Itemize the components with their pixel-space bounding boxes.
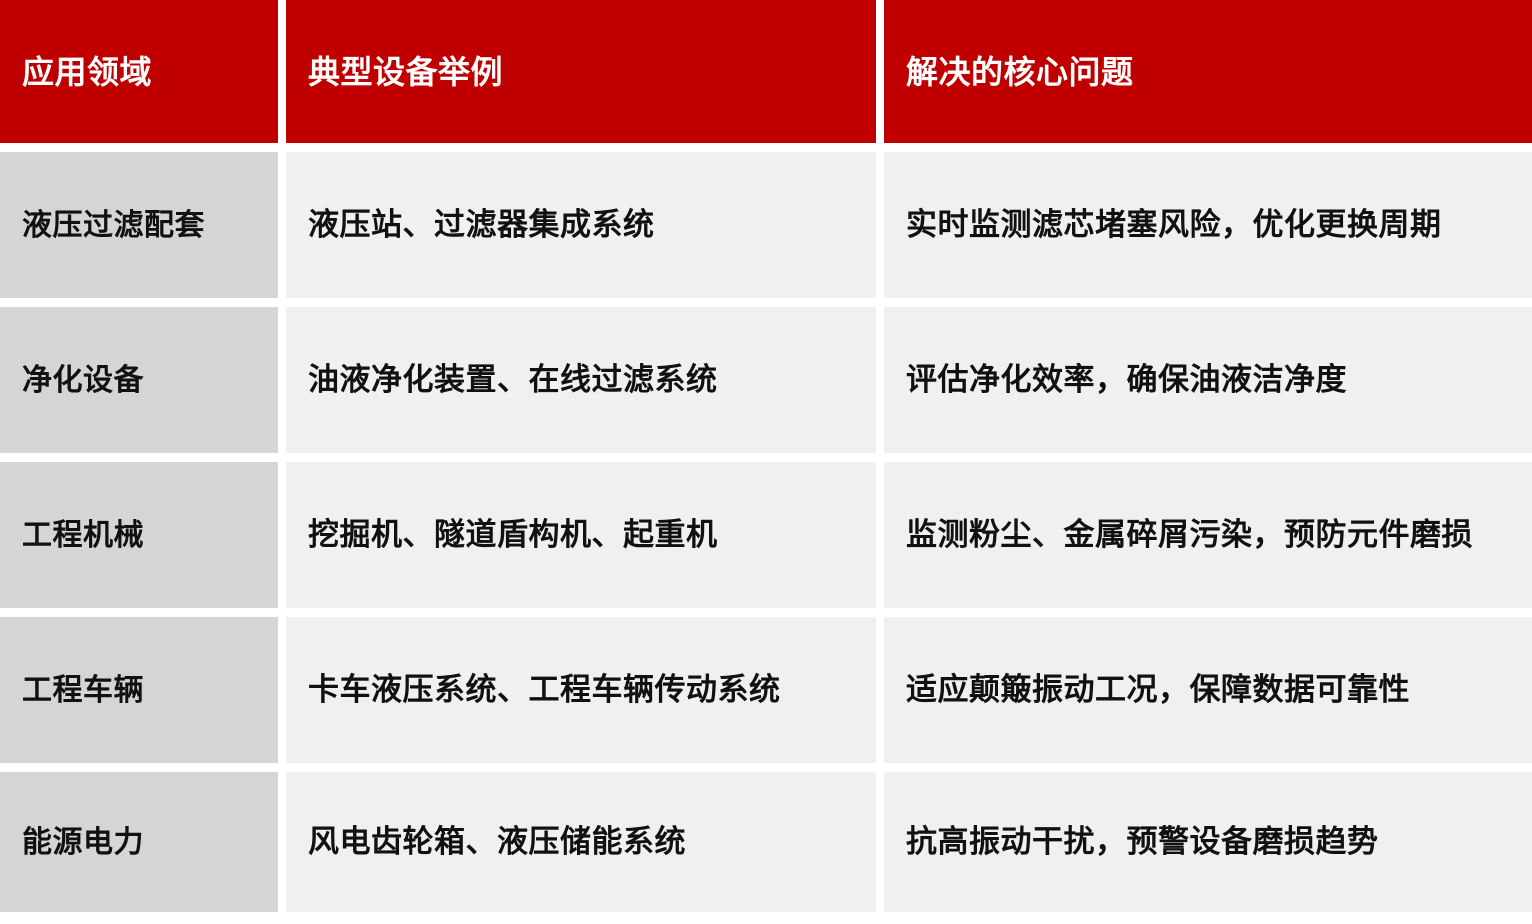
cell-core-problem: 监测粉尘、金属碎屑污染，预防元件磨损 bbox=[884, 462, 1532, 608]
cell-typical-equipment: 液压站、过滤器集成系统 bbox=[286, 152, 876, 298]
column-header-core-problem: 解决的核心问题 bbox=[884, 0, 1532, 143]
table-row: 工程机械 挖掘机、隧道盾构机、起重机 监测粉尘、金属碎屑污染，预防元件磨损 bbox=[0, 462, 1532, 608]
table-header-row: 应用领域 典型设备举例 解决的核心问题 bbox=[0, 0, 1532, 143]
cell-typical-equipment: 油液净化装置、在线过滤系统 bbox=[286, 307, 876, 453]
application-domain-table: 应用领域 典型设备举例 解决的核心问题 液压过滤配套 液压站、过滤器集成系统 实… bbox=[0, 0, 1532, 921]
cell-typical-equipment: 风电齿轮箱、液压储能系统 bbox=[286, 772, 876, 912]
table-row: 工程车辆 卡车液压系统、工程车辆传动系统 适应颠簸振动工况，保障数据可靠性 bbox=[0, 617, 1532, 763]
cell-core-problem: 评估净化效率，确保油液洁净度 bbox=[884, 307, 1532, 453]
cell-core-problem: 抗高振动干扰，预警设备磨损趋势 bbox=[884, 772, 1532, 912]
column-header-application-field: 应用领域 bbox=[0, 0, 278, 143]
table-row: 液压过滤配套 液压站、过滤器集成系统 实时监测滤芯堵塞风险，优化更换周期 bbox=[0, 152, 1532, 298]
table-header: 应用领域 典型设备举例 解决的核心问题 bbox=[0, 0, 1532, 143]
cell-application-field: 工程车辆 bbox=[0, 617, 278, 763]
table-row: 能源电力 风电齿轮箱、液压储能系统 抗高振动干扰，预警设备磨损趋势 bbox=[0, 772, 1532, 912]
cell-core-problem: 实时监测滤芯堵塞风险，优化更换周期 bbox=[884, 152, 1532, 298]
table-row: 净化设备 油液净化装置、在线过滤系统 评估净化效率，确保油液洁净度 bbox=[0, 307, 1532, 453]
cell-application-field: 工程机械 bbox=[0, 462, 278, 608]
cell-core-problem: 适应颠簸振动工况，保障数据可靠性 bbox=[884, 617, 1532, 763]
column-header-typical-equipment: 典型设备举例 bbox=[286, 0, 876, 143]
cell-application-field: 能源电力 bbox=[0, 772, 278, 912]
cell-application-field: 液压过滤配套 bbox=[0, 152, 278, 298]
table-body: 液压过滤配套 液压站、过滤器集成系统 实时监测滤芯堵塞风险，优化更换周期 净化设… bbox=[0, 152, 1532, 912]
cell-typical-equipment: 卡车液压系统、工程车辆传动系统 bbox=[286, 617, 876, 763]
cell-application-field: 净化设备 bbox=[0, 307, 278, 453]
cell-typical-equipment: 挖掘机、隧道盾构机、起重机 bbox=[286, 462, 876, 608]
application-table-container: 应用领域 典型设备举例 解决的核心问题 液压过滤配套 液压站、过滤器集成系统 实… bbox=[0, 0, 1532, 915]
